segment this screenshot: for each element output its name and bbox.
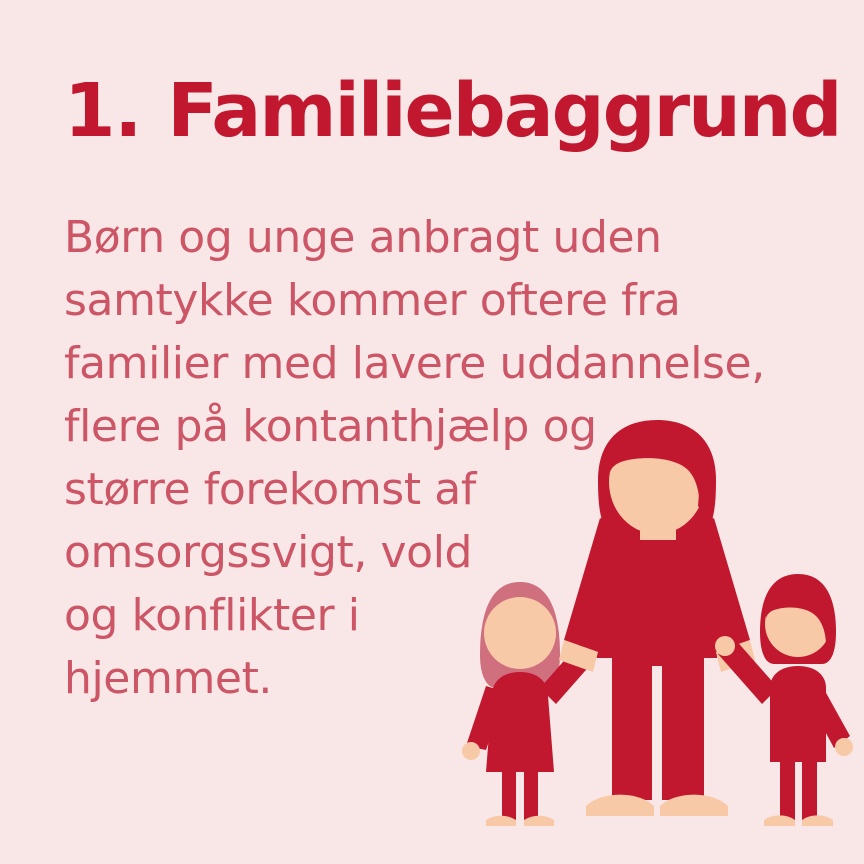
adult-leg-gap — [652, 666, 662, 806]
slide-root: 1. Familiebaggrund Børn og unge anbragt … — [0, 0, 864, 864]
boy-leg-right — [802, 760, 817, 820]
girl-head — [484, 597, 556, 669]
adult-parent-figure — [559, 420, 755, 816]
body-line: Børn og unge anbragt uden — [64, 206, 764, 269]
girl-leg-right — [524, 772, 538, 820]
page-title-text: Familiebaggrund — [167, 74, 840, 148]
boy-leg-left — [780, 760, 795, 820]
body-line: familier med lavere uddannelse, — [64, 332, 764, 395]
boy-free-hand — [835, 738, 853, 756]
family-illustration — [452, 420, 864, 864]
boy-hand-held — [715, 636, 735, 656]
body-line: samtykke kommer oftere fra — [64, 269, 764, 332]
page-title: 1. Familiebaggrund — [64, 74, 840, 148]
girl-leg-left — [502, 772, 516, 820]
page-title-number: 1. — [64, 74, 141, 148]
girl-far-hand — [462, 742, 480, 760]
